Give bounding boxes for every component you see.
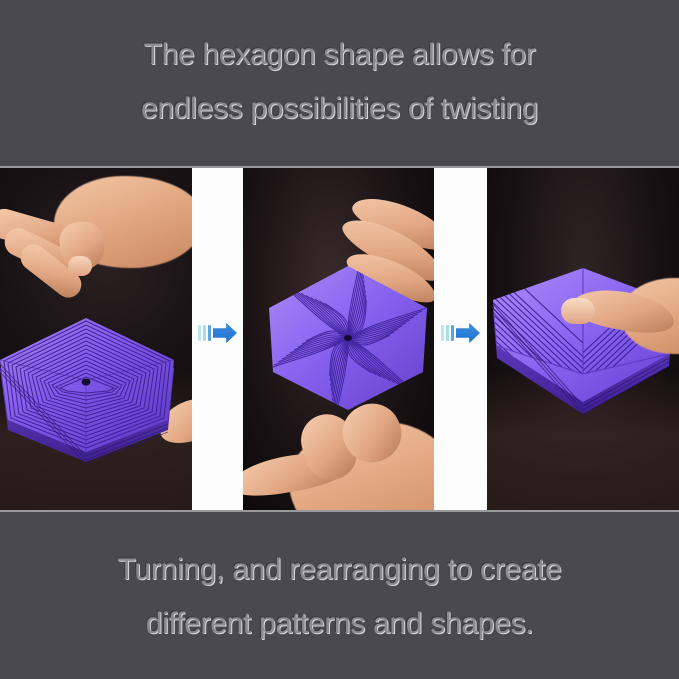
panel-twisted-spiral [243, 168, 434, 512]
motion-line-1 [198, 325, 201, 341]
arrow-head-icon [213, 321, 237, 345]
motion-line-3 [208, 325, 211, 341]
top-caption: The hexagon shape allows for endless pos… [0, 0, 679, 164]
motion-lines [198, 325, 211, 341]
arrow-head-icon [456, 321, 480, 345]
photo-strip [0, 166, 679, 512]
panel-3-finger [575, 272, 679, 362]
panel-2-hexagon-toy [255, 260, 434, 420]
product-infographic: The hexagon shape allows for endless pos… [0, 0, 679, 679]
motion-arrow-right-icon [441, 321, 480, 345]
motion-line-2 [446, 325, 449, 341]
top-caption-line-2: endless possibilities of twisting [141, 94, 538, 124]
bottom-caption-line-2: different patterns and shapes. [146, 609, 533, 639]
panel-rearranged-pattern [487, 168, 679, 512]
motion-line-3 [451, 325, 454, 341]
panel-flat-hexagon [0, 168, 192, 512]
motion-lines [441, 325, 454, 341]
bottom-caption-line-1: Turning, and rearranging to create [118, 555, 562, 585]
top-caption-line-1: The hexagon shape allows for [144, 40, 536, 70]
panel-1-hexagon-toy [0, 280, 192, 470]
motion-arrow-right-icon [198, 321, 237, 345]
panel-separator-2 [434, 168, 487, 512]
panel-separator-1 [192, 168, 243, 512]
motion-line-2 [203, 325, 206, 341]
motion-line-1 [441, 325, 444, 341]
bottom-caption: Turning, and rearranging to create diffe… [0, 514, 679, 679]
panel-2-lower-hand [243, 398, 434, 512]
